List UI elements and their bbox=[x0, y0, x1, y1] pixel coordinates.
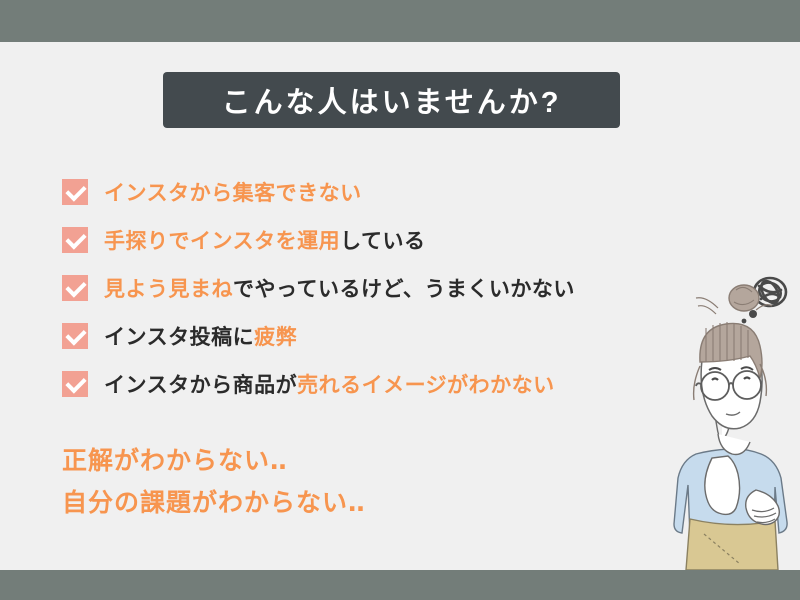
list-item-label: インスタ投稿に疲弊 bbox=[104, 321, 297, 351]
list-item[interactable]: 見よう見まねでやっているけど、うまくいかない bbox=[62, 264, 662, 312]
closing-line-1: 正解がわからない‥ bbox=[62, 440, 366, 482]
label-segment-accent: 見よう見まね bbox=[104, 278, 233, 301]
slide-canvas: こんな人はいませんか? インスタから集客できない 手探りでインスタを運用している… bbox=[0, 42, 800, 570]
top-frame-bar bbox=[0, 0, 800, 42]
title-banner: こんな人はいませんか? bbox=[163, 72, 620, 128]
checkmark-icon[interactable] bbox=[62, 227, 88, 253]
checkmark-icon[interactable] bbox=[62, 371, 88, 397]
bottom-frame-bar bbox=[0, 570, 800, 600]
list-item-label: インスタから商品が売れるイメージがわかない bbox=[104, 369, 555, 399]
closing-text-block: 正解がわからない‥ 自分の課題がわからない‥ bbox=[62, 440, 366, 524]
checklist: インスタから集客できない 手探りでインスタを運用している 見よう見まねでやってい… bbox=[62, 168, 662, 408]
label-segment-accent: インスタから集客できない bbox=[104, 182, 362, 205]
label-segment-accent: 売れるイメージがわかない bbox=[297, 374, 555, 397]
checkmark-icon[interactable] bbox=[62, 179, 88, 205]
list-item[interactable]: インスタから集客できない bbox=[62, 168, 662, 216]
closing-line-2: 自分の課題がわからない‥ bbox=[62, 482, 366, 524]
checkmark-icon[interactable] bbox=[62, 323, 88, 349]
list-item-label: 手探りでインスタを運用している bbox=[104, 225, 425, 255]
list-item-label: 見よう見まねでやっているけど、うまくいかない bbox=[104, 273, 575, 303]
label-segment-dark: インスタ投稿に bbox=[104, 326, 254, 349]
list-item[interactable]: 手探りでインスタを運用している bbox=[62, 216, 662, 264]
label-segment-dark: インスタから商品が bbox=[104, 374, 297, 397]
label-segment-accent: 疲弊 bbox=[254, 326, 297, 349]
label-segment-dark: でやっているけど、うまくいかない bbox=[233, 278, 575, 301]
list-item[interactable]: インスタ投稿に疲弊 bbox=[62, 312, 662, 360]
thinking-woman-illustration bbox=[660, 258, 800, 570]
list-item[interactable]: インスタから商品が売れるイメージがわかない bbox=[62, 360, 662, 408]
checkmark-icon[interactable] bbox=[62, 275, 88, 301]
list-item-label: インスタから集客できない bbox=[104, 177, 362, 207]
page-title: こんな人はいませんか? bbox=[222, 79, 562, 121]
label-segment-dark: している bbox=[340, 230, 425, 253]
label-segment-accent: 手探りでインスタを運用 bbox=[104, 230, 340, 253]
